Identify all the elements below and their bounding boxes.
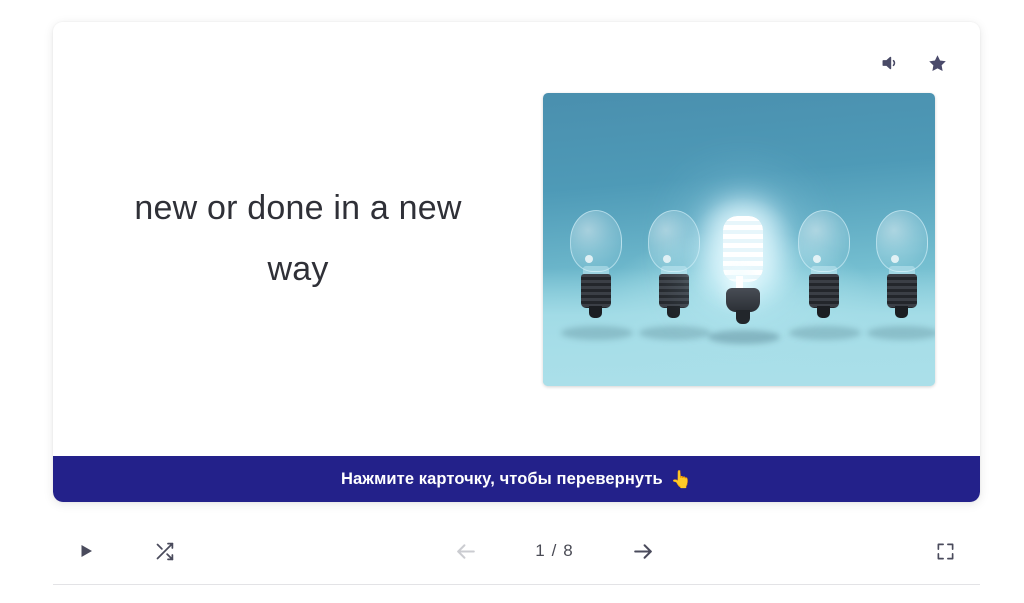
next-card-button[interactable] [629,536,659,566]
shuffle-icon [154,541,175,562]
bulb-unlit [567,210,625,330]
bulb-unlit [873,210,931,330]
star-button[interactable] [924,50,950,76]
pointing-up-hand-icon: 👆 [671,471,692,488]
star-icon [927,53,948,74]
prev-card-button[interactable] [451,536,481,566]
card-action-icons [877,50,950,76]
audio-icon [880,53,900,73]
play-button[interactable] [71,536,101,566]
image-pane [543,93,980,386]
toolbar-right-group [930,536,960,566]
card-term-text: new or done in a new way [108,178,488,299]
flashcard-toolbar: 1 / 8 [53,520,980,582]
fullscreen-button[interactable] [930,536,960,566]
bulb-unlit [795,210,853,330]
bulb-unlit [645,210,703,330]
toolbar-nav-group: 1 / 8 [179,536,930,566]
flashcard-content: new or done in a new way [53,22,980,456]
play-icon [77,542,95,560]
lightbulbs-photo [543,93,935,386]
flip-card-banner-text: Нажмите карточку, чтобы перевернуть [341,470,663,489]
shuffle-button[interactable] [149,536,179,566]
bottom-divider [53,584,980,585]
fullscreen-icon [936,542,955,561]
term-pane: new or done in a new way [53,178,543,299]
bulb-lit [714,214,772,334]
arrow-right-icon [631,539,656,564]
toolbar-left-group [71,536,179,566]
arrow-left-icon [453,539,478,564]
flashcard-front-face[interactable]: new or done in a new way [53,22,980,456]
flashcard-viewer: new or done in a new way [53,22,980,584]
flip-card-banner[interactable]: Нажмите карточку, чтобы перевернуть 👆 [53,456,980,502]
flashcard[interactable]: new or done in a new way [53,22,980,502]
card-counter: 1 / 8 [529,541,581,561]
audio-button[interactable] [877,50,903,76]
